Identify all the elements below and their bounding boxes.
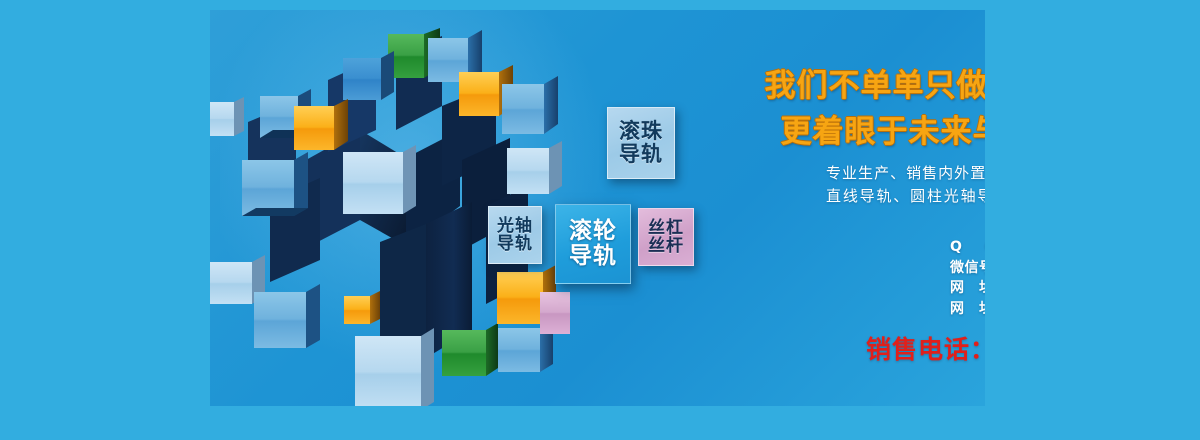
chip-line-2: 丝杆 — [648, 237, 684, 255]
contact-label-qq: Q Q — [950, 239, 985, 255]
headline-line-2: 更着眼于未来与您长期合作 — [750, 106, 985, 151]
contact-row-website-1: 网 址 ： Www.Zxdgzc.Com — [950, 277, 985, 298]
banner-panel: 滚珠 导轨 光轴 导轨 滚轮 导轨 丝杠 丝杆 我们不单单只做您目前的订单 更着… — [210, 10, 985, 406]
product-chip-guangzhou-daogui[interactable]: 光轴 导轨 — [488, 206, 542, 264]
contact-info-block: Q Q ： 80286553 微信号 ： zxdgzc （直线导轨轴承） 网 址… — [950, 236, 985, 318]
chip-line-2: 导轨 — [569, 244, 617, 269]
chip-line-1: 光轴 — [497, 217, 533, 235]
contact-label-website: 网 址 — [950, 277, 985, 297]
chip-line-2: 导轨 — [619, 143, 663, 166]
product-chip-gunlun-daogui[interactable]: 滚轮 导轨 — [555, 204, 631, 284]
chip-line-2: 导轨 — [497, 235, 533, 253]
sales-phone-label: 销售电话： — [866, 335, 985, 364]
chip-line-1: 丝杠 — [648, 219, 684, 237]
contact-row-qq: Q Q ： 80286553 — [950, 236, 985, 257]
banner-content: 我们不单单只做您目前的订单 更着眼于未来与您长期合作 专业生产、销售内外置双轴心… — [750, 20, 985, 406]
chip-line-1: 滚珠 — [619, 120, 663, 143]
business-description: 专业生产、销售内外置双轴心滚轮直线导轨、滚珠直线导轨、圆柱光轴导轨、丝杠丝杆、直… — [826, 162, 985, 232]
sales-phone[interactable]: 销售电话：18357860469 — [866, 330, 985, 366]
contact-label-wechat: 微信号 — [950, 257, 985, 277]
headline-line-1: 我们不单单只做您目前的订单 — [750, 60, 985, 105]
chip-line-1: 滚轮 — [569, 219, 617, 244]
contact-label-website: 网 址 — [950, 298, 985, 318]
promo-banner: 滚珠 导轨 光轴 导轨 滚轮 导轨 丝杠 丝杆 我们不单单只做您目前的订单 更着… — [0, 0, 1200, 440]
contact-row-wechat: 微信号 ： zxdgzc （直线导轨轴承） — [950, 257, 985, 278]
contact-row-website-2: 网 址 ： Www.Cnzxdg.Com — [950, 298, 985, 319]
product-chip-sigang-sigan[interactable]: 丝杠 丝杆 — [638, 208, 694, 266]
product-chip-gunzhu-daogui[interactable]: 滚珠 导轨 — [607, 107, 675, 179]
